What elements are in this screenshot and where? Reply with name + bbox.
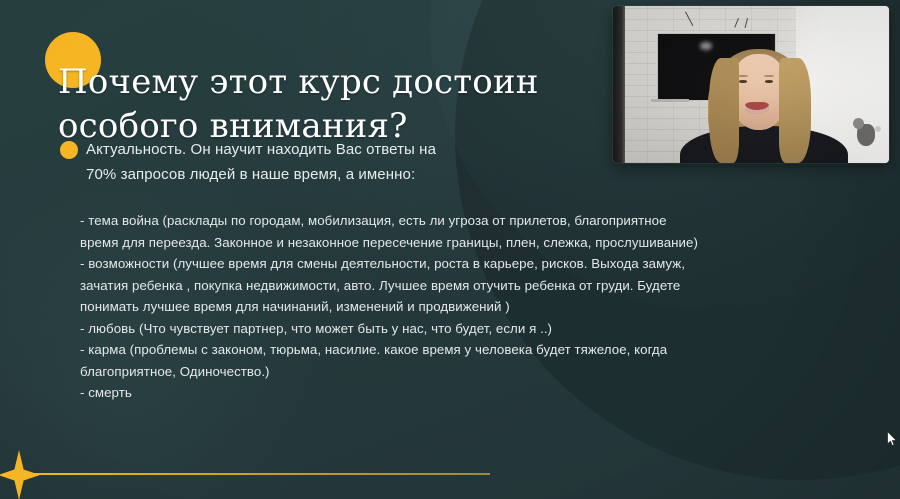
body-paragraph: - возможности (лучшее время для смены де… [80, 253, 705, 318]
mouse-pointer-icon [887, 431, 898, 447]
body-paragraph: - карма (проблемы с законом, тюрьма, нас… [80, 339, 705, 382]
lead-paragraph: Актуальность. Он научит находить Вас отв… [86, 138, 536, 188]
footer-divider [28, 473, 490, 475]
page-title: Почему этот курс достоин особого внимани… [58, 60, 588, 148]
presenter-video-feed[interactable] [613, 6, 889, 163]
body-content: - тема война (расклады по городам, мобил… [80, 210, 705, 404]
body-paragraph: - любовь (Что чувствует партнер, что мож… [80, 318, 705, 340]
presentation-slide: Почему этот курс достоин особого внимани… [0, 0, 900, 499]
body-paragraph: - тема война (расклады по городам, мобил… [80, 210, 705, 253]
body-paragraph: - смерть [80, 382, 705, 404]
lead-bullet-icon [60, 141, 78, 159]
video-soft-overlay [613, 6, 889, 163]
